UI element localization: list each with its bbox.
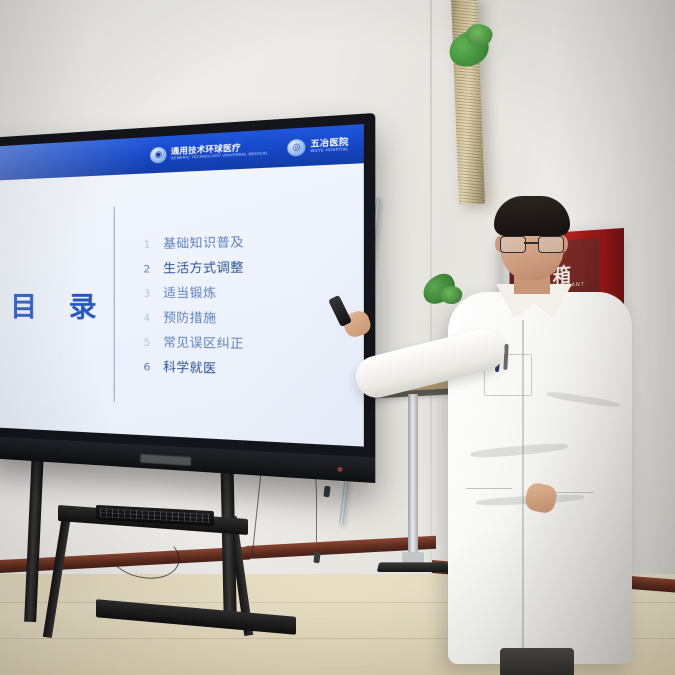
toc-number: 6 bbox=[143, 361, 152, 373]
list-item[interactable]: 5 常见误区纠正 bbox=[143, 333, 364, 354]
display-screen[interactable]: ◉ 通用技术环球医疗 GENERIC TECHNOLOGY UNIVERSAL … bbox=[0, 124, 364, 447]
toc-number: 3 bbox=[143, 288, 152, 300]
pointer-stick-band bbox=[313, 552, 320, 564]
table-of-contents-list: 1 基础知识普及 2 生活方式调整 3 适当锻炼 4 预防措施 bbox=[115, 216, 364, 395]
logo-generic-medical: ◉ 通用技术环球医疗 GENERIC TECHNOLOGY UNIVERSAL … bbox=[150, 140, 268, 163]
slide-title: 目 录 bbox=[0, 284, 114, 325]
list-item[interactable]: 2 生活方式调整 bbox=[143, 256, 364, 276]
toc-number: 1 bbox=[143, 239, 152, 251]
power-led-icon bbox=[337, 467, 342, 472]
list-item[interactable]: 6 科学就医 bbox=[143, 357, 364, 380]
slide-body: 目 录 1 基础知识普及 2 生活方式调整 3 适当锻炼 bbox=[0, 163, 364, 446]
pointer-stick-band bbox=[323, 486, 330, 498]
hair bbox=[494, 196, 570, 236]
coat-pocket bbox=[466, 488, 512, 489]
lens-left bbox=[500, 236, 526, 253]
toc-label: 科学就医 bbox=[163, 357, 216, 376]
trousers bbox=[500, 648, 574, 675]
logo-wuye-hospital: ◎ 五冶医院 WUYE HOSPITAL bbox=[287, 136, 348, 156]
globe-logo-icon: ◉ bbox=[150, 146, 166, 163]
toc-label: 预防措施 bbox=[163, 308, 216, 326]
list-item[interactable]: 1 基础知识普及 bbox=[143, 229, 364, 251]
smart-display[interactable]: ◉ 通用技术环球医疗 GENERIC TECHNOLOGY UNIVERSAL … bbox=[0, 113, 375, 483]
toc-number: 4 bbox=[143, 312, 152, 324]
photo-scene: 栓箱 FIRE HYDRANT 器 箱 ◉ 通用技术环球医疗 bbox=[0, 0, 675, 675]
logo-label-en: WUYE HOSPITAL bbox=[310, 147, 348, 153]
hospital-logo-icon: ◎ bbox=[287, 138, 305, 156]
glasses-bridge bbox=[524, 242, 538, 244]
toc-label: 生活方式调整 bbox=[163, 258, 244, 276]
toc-label: 常见误区纠正 bbox=[163, 333, 244, 352]
toc-label: 适当锻炼 bbox=[163, 283, 216, 300]
presenter bbox=[396, 196, 644, 675]
toc-label: 基础知识普及 bbox=[163, 232, 244, 251]
lens-right bbox=[538, 236, 564, 253]
eyeglasses-icon bbox=[500, 236, 564, 251]
toc-number: 2 bbox=[143, 263, 152, 275]
list-item[interactable]: 4 预防措施 bbox=[143, 308, 364, 327]
toc-number: 5 bbox=[143, 337, 152, 349]
